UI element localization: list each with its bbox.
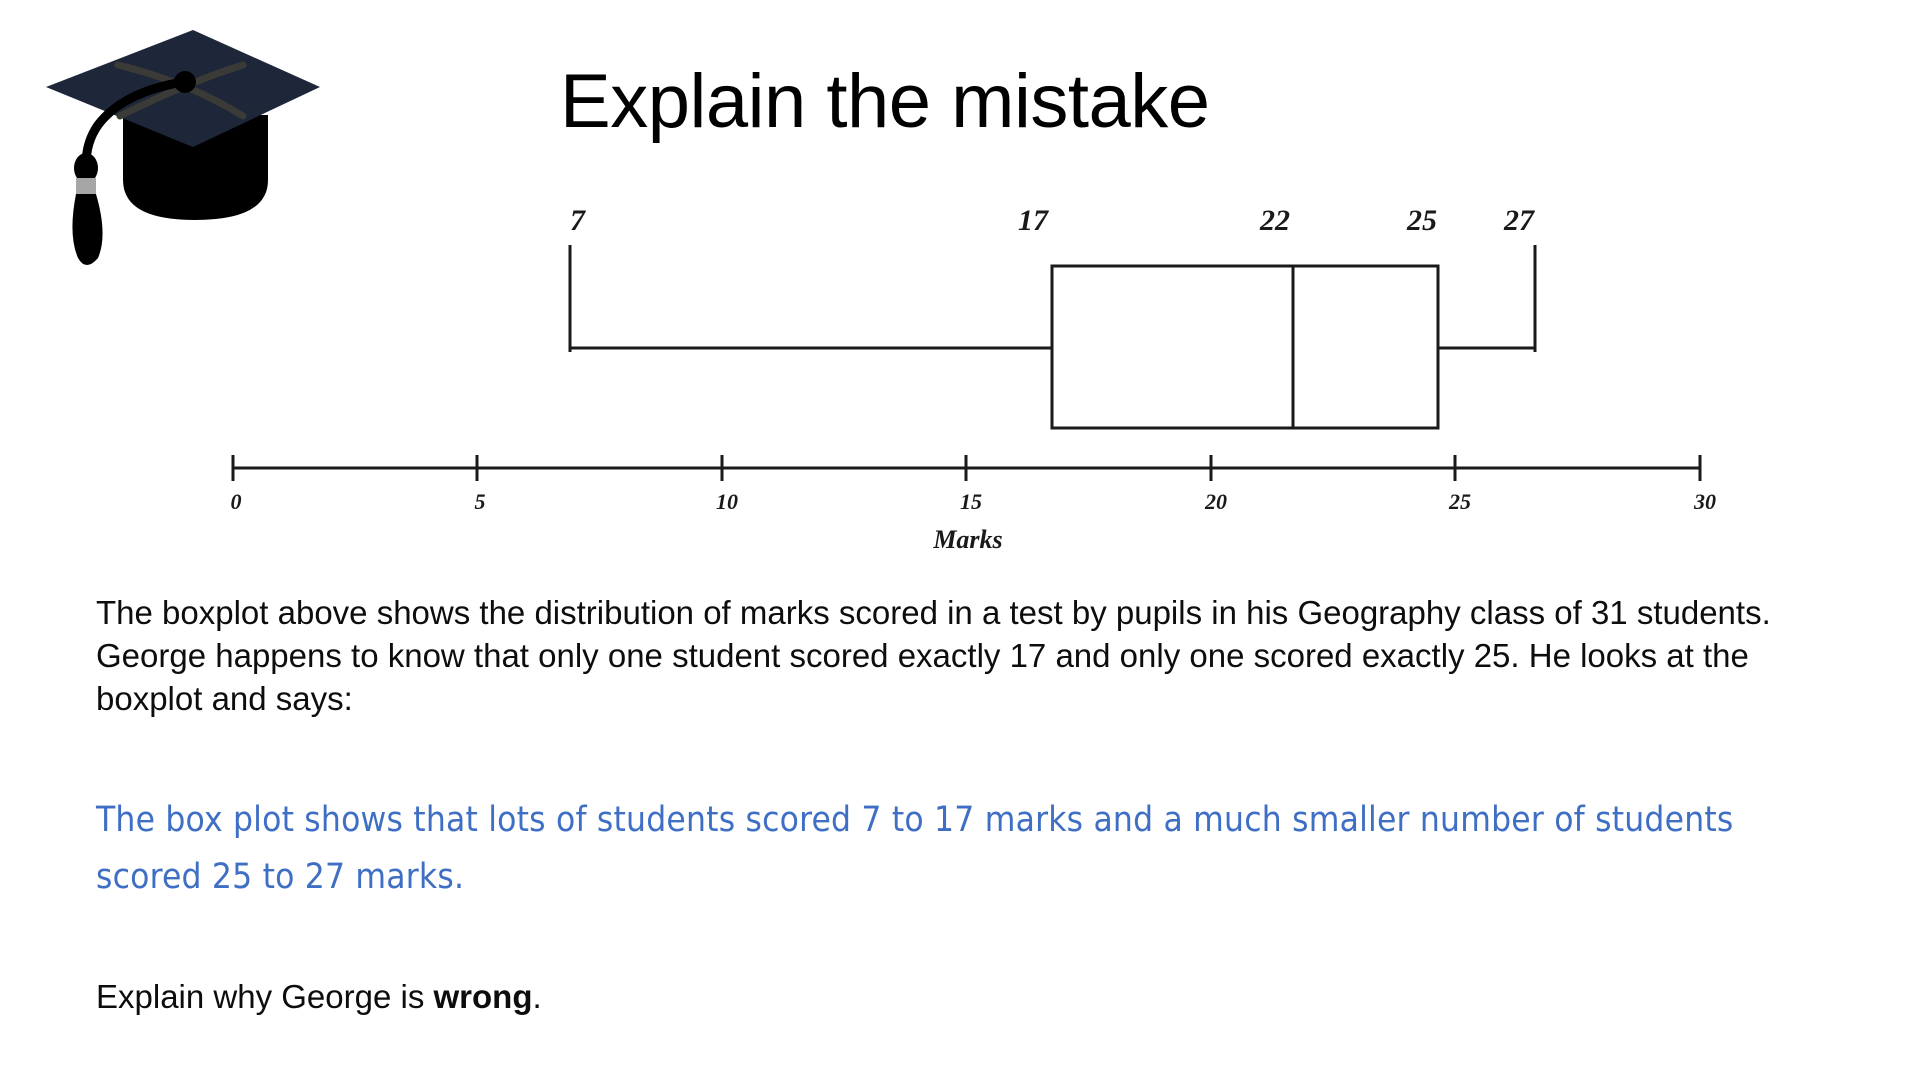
george-quote: The box plot shows that lots of students… (96, 792, 1796, 905)
boxplot-box (1052, 266, 1438, 428)
axis-tick-label-15: 15 (960, 489, 982, 514)
axis-tick-label-5: 5 (475, 489, 486, 514)
axis-tick-label-0: 0 (231, 489, 242, 514)
axis-tick-label-10: 10 (716, 489, 738, 514)
tassel-band-shape (76, 178, 96, 194)
axis-tick-label-20: 20 (1204, 489, 1227, 514)
explain-bold-word: wrong (434, 978, 533, 1015)
boxplot-q1-label: 17 (1018, 204, 1049, 237)
explain-instruction: Explain why George is wrong. (96, 976, 542, 1019)
button-shape (174, 71, 196, 93)
intro-paragraph: The boxplot above shows the distribution… (96, 592, 1776, 721)
boxplot-geometry (570, 245, 1535, 428)
axis-tick-label-25: 25 (1448, 489, 1471, 514)
boxplot-figure: 7 17 22 25 27 (0, 200, 1920, 580)
explain-suffix: . (532, 978, 541, 1015)
boxplot-svg: 7 17 22 25 27 (0, 200, 1920, 580)
page-title: Explain the mistake (560, 58, 1210, 145)
axis-tick-label-30: 30 (1693, 489, 1716, 514)
boxplot-median-label: 22 (1259, 204, 1290, 237)
axis-title-marks: Marks (932, 525, 1002, 554)
boxplot-q3-label: 25 (1406, 204, 1437, 237)
boxplot-min-label: 7 (570, 204, 586, 237)
boxplot-max-label: 27 (1503, 204, 1535, 237)
boxplot-axis (233, 455, 1700, 481)
explain-prefix: Explain why George is (96, 978, 434, 1015)
